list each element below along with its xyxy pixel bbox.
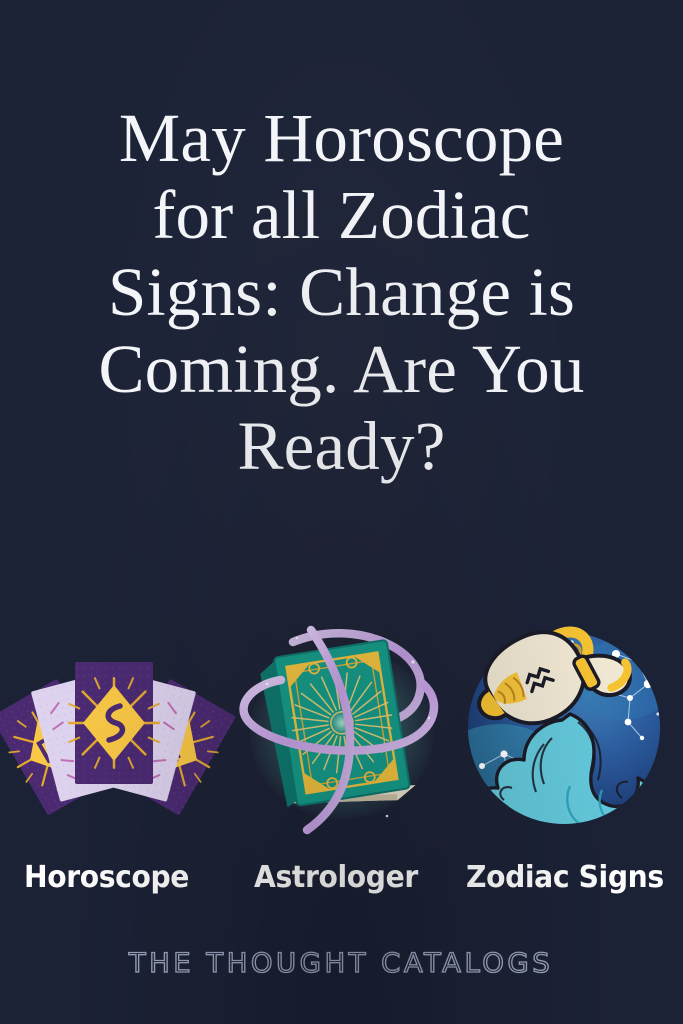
title-line-3: Signs: Change is — [48, 254, 635, 331]
aquarius-urn-icon — [452, 618, 677, 833]
icon-row — [0, 618, 683, 833]
tarot-cards-icon — [6, 618, 221, 833]
pinterest-pin-graphic: May Horoscope for all Zodiac Signs: Chan… — [0, 0, 683, 1024]
title-line-2: for all Zodiac — [48, 177, 635, 254]
label-astrologer: Astrologer — [254, 860, 418, 895]
brand-wordmark: The Thought Catalogs — [129, 948, 553, 979]
page-title: May Horoscope for all Zodiac Signs: Chan… — [0, 100, 683, 485]
title-line-1: May Horoscope — [48, 100, 635, 177]
tarot-card-center — [69, 662, 159, 784]
magic-book-icon — [237, 618, 447, 833]
label-horoscope: Horoscope — [24, 860, 189, 895]
footer: The Thought Catalogs — [0, 948, 683, 979]
title-line-5: Ready? — [48, 408, 635, 485]
icon-labels: Horoscope Astrologer Zodiac Signs — [0, 860, 683, 902]
label-zodiac-signs: Zodiac Signs — [466, 860, 664, 895]
title-line-4: Coming. Are You — [48, 331, 635, 408]
